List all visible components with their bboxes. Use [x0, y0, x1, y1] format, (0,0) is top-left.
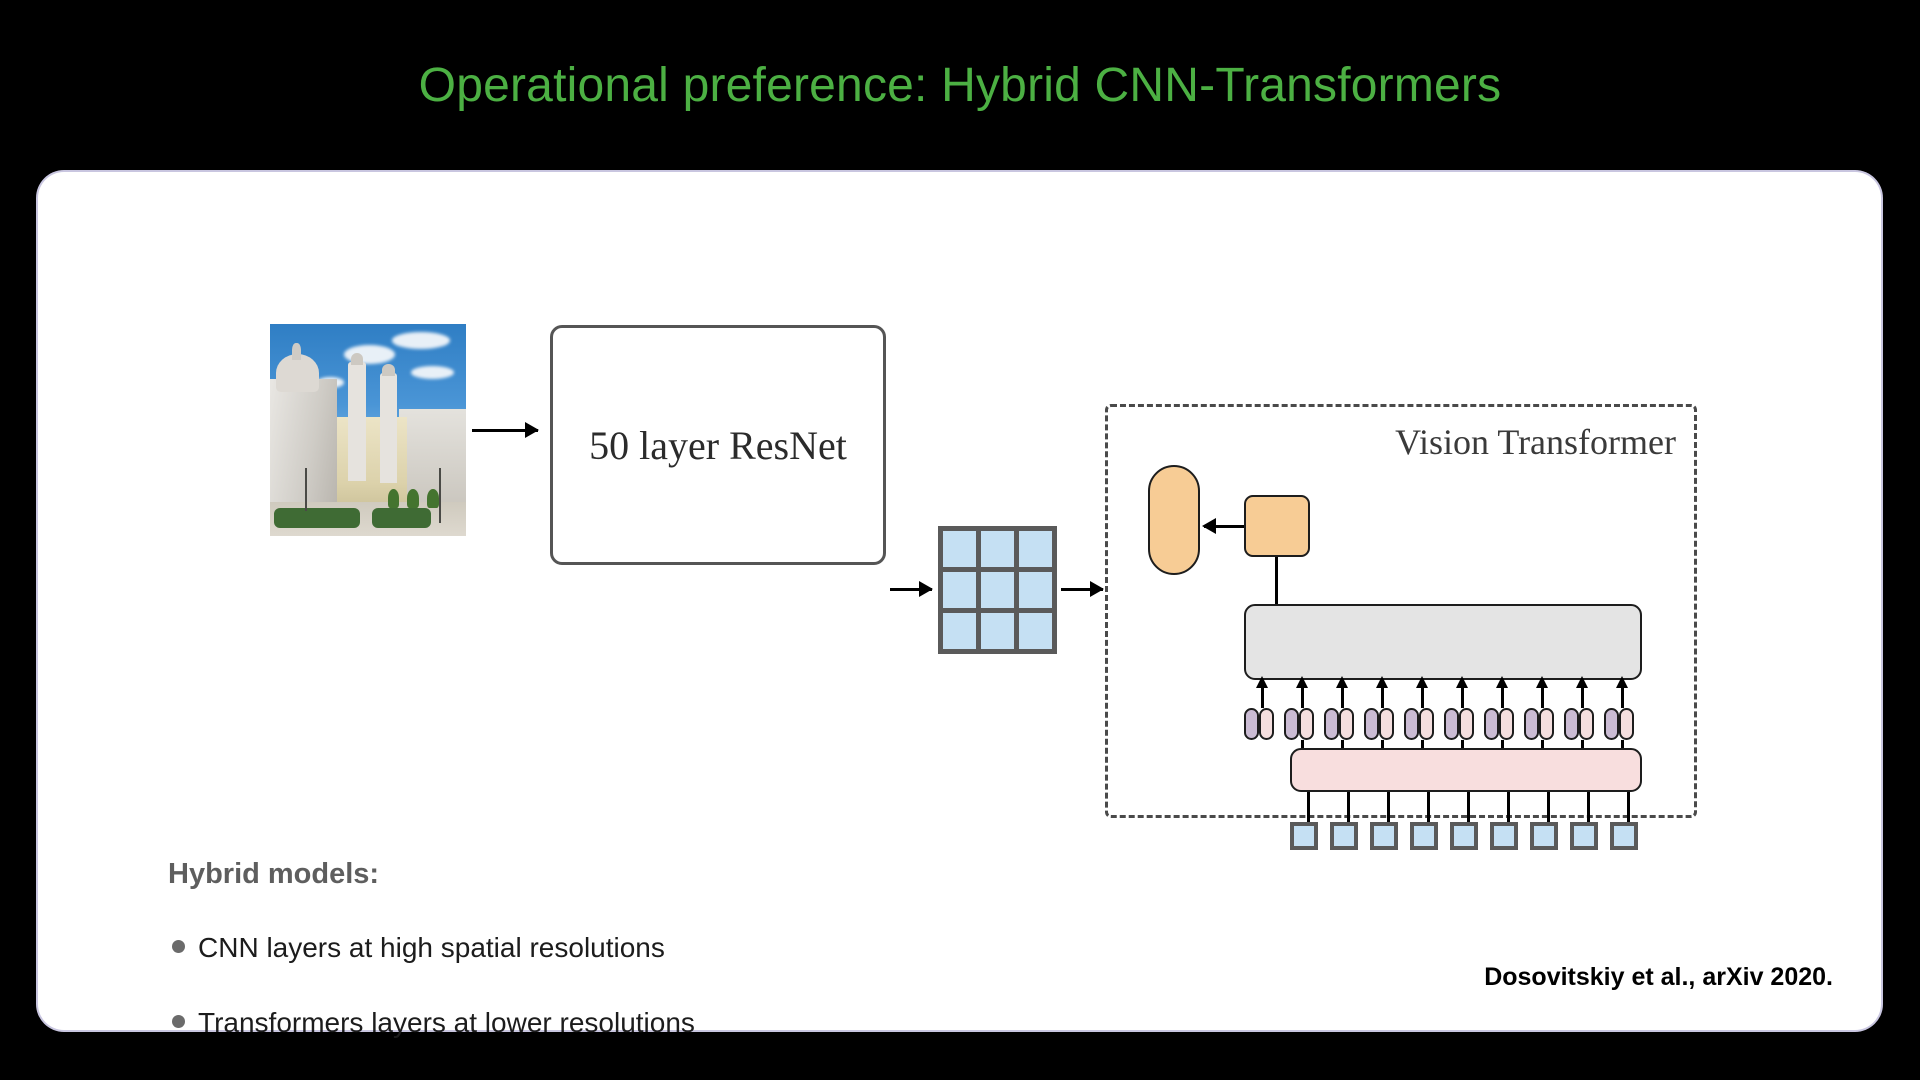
mlp-head-pill: [1148, 465, 1200, 575]
feature-map-grid: [938, 526, 1057, 654]
bullet-list: CNN layers at high spatial resolutions T…: [172, 932, 695, 1080]
token-pair: [1284, 708, 1314, 740]
patch-stem: [1347, 792, 1350, 822]
photo-bush: [407, 489, 419, 508]
feature-cell: [1019, 613, 1052, 649]
image-patch: [1570, 822, 1598, 850]
arrow-classtoken-to-mlphead: [1204, 525, 1244, 528]
token-pair: [1404, 708, 1434, 740]
transformer-encoder-bar: [1244, 604, 1642, 680]
feature-cell: [981, 531, 1014, 567]
section-subheading: Hybrid models:: [168, 858, 379, 891]
citation-text: Dosovitskiy et al., arXiv 2020.: [1484, 963, 1833, 992]
feature-cell: [943, 531, 976, 567]
image-patch: [1290, 822, 1318, 850]
photo-tower: [380, 373, 398, 483]
token-pair: [1564, 708, 1594, 740]
vision-transformer-label: Vision Transformer: [1395, 421, 1676, 463]
feature-cell: [943, 572, 976, 608]
image-patch: [1330, 822, 1358, 850]
slide-root: Operational preference: Hybrid CNN-Trans…: [0, 0, 1920, 1080]
patch-stem: [1507, 792, 1510, 822]
token-pair: [1484, 708, 1514, 740]
resnet-block: 50 layer ResNet: [550, 325, 886, 565]
image-patch: [1530, 822, 1558, 850]
photo-lamppost: [305, 468, 307, 510]
architecture-figure: 50 layer ResNet Vision Transformer: [38, 172, 1881, 642]
token-pair: [1524, 708, 1554, 740]
photo-hedge: [274, 508, 360, 527]
photo-dome-lantern: [292, 343, 302, 360]
arrow-featuremap-to-vit: [1061, 588, 1103, 591]
bullet-dot-icon: [172, 1015, 185, 1028]
arrow-resnet-to-featuremap: [890, 588, 932, 591]
patch-row: [1290, 792, 1642, 852]
token-pair: [1444, 708, 1474, 740]
vision-transformer-panel: Vision Transformer: [1105, 404, 1697, 818]
token-pair: [1324, 708, 1354, 740]
photo-tower: [348, 362, 366, 481]
patch-stem: [1547, 792, 1550, 822]
list-item-label: Transformers layers at lower resolutions: [198, 1007, 695, 1039]
image-patch: [1370, 822, 1398, 850]
content-card: 50 layer ResNet Vision Transformer: [38, 172, 1881, 1030]
patch-stem: [1587, 792, 1590, 822]
feature-cell: [1019, 531, 1052, 567]
photo-hedge: [372, 508, 431, 527]
image-patch: [1410, 822, 1438, 850]
token-row: [1244, 690, 1642, 740]
feature-cell: [943, 613, 976, 649]
class-token-stem: [1275, 557, 1278, 605]
list-item: CNN layers at high spatial resolutions: [172, 932, 695, 964]
list-item-label: CNN layers at high spatial resolutions: [198, 932, 665, 964]
patch-stem: [1627, 792, 1630, 822]
patch-stem: [1307, 792, 1310, 822]
patch-stem: [1387, 792, 1390, 822]
list-item: Transformers layers at lower resolutions: [172, 1007, 695, 1039]
bullet-dot-icon: [172, 940, 185, 953]
input-image-thumbnail: [270, 324, 466, 536]
linear-projection-bar: [1290, 748, 1642, 792]
photo-bush: [427, 489, 439, 508]
token-pair: [1604, 708, 1634, 740]
photo-lamppost: [439, 468, 441, 523]
photo-bush: [388, 489, 400, 508]
photo-building-left: [270, 379, 337, 510]
feature-cell: [981, 613, 1014, 649]
image-patch: [1450, 822, 1478, 850]
resnet-label: 50 layer ResNet: [589, 422, 847, 469]
image-patch: [1490, 822, 1518, 850]
image-patch: [1610, 822, 1638, 850]
page-title: Operational preference: Hybrid CNN-Trans…: [0, 58, 1920, 113]
patch-stem: [1467, 792, 1470, 822]
token-pair: [1244, 708, 1274, 740]
token-pair: [1364, 708, 1394, 740]
class-token-box: [1244, 495, 1310, 557]
feature-cell: [981, 572, 1014, 608]
feature-cell: [1019, 572, 1052, 608]
arrow-image-to-resnet: [472, 429, 538, 432]
patch-stem: [1427, 792, 1430, 822]
